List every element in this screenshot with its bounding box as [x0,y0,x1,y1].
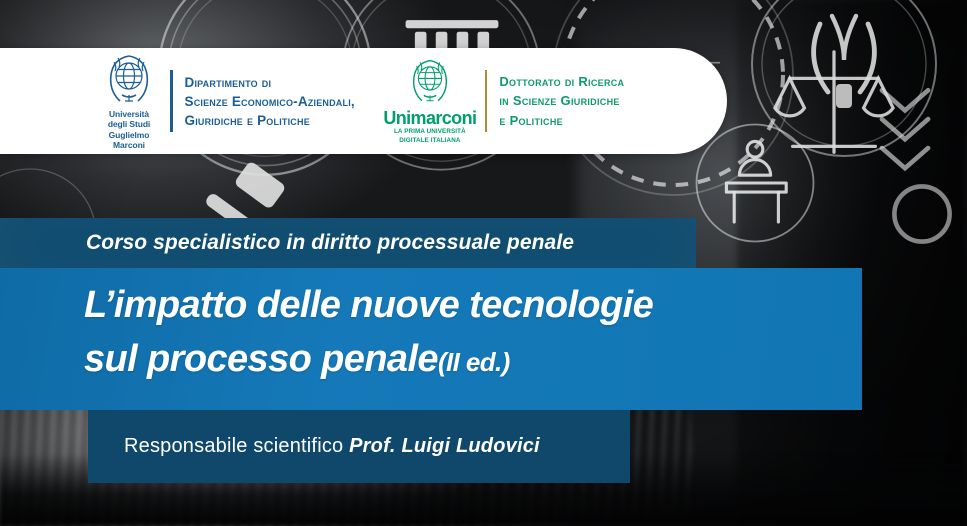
department-text: Dipartimento di Scienze Economico-Aziend… [185,73,355,130]
phd-program-text: Dottorato di Ricerca in Scienze Giuridic… [499,72,624,131]
divider-rule-gold [485,70,488,132]
unimarconi-wordmark: Unimarconi [383,109,476,127]
crest-globe-green-icon [405,57,455,107]
department-line1: Dipartimento di [185,73,355,92]
phd-line1: Dottorato di Ricerca [499,72,624,92]
department-line3: Giuridiche e Politiche [185,111,355,130]
phd-line3: e Politiche [499,111,624,131]
unimarconi-tagline-line2: DIGITALE ITALIANA [399,137,460,145]
ring-small-icon [876,168,967,260]
institution-header-card: Università degli Studi Guglielmo Marconi… [0,48,727,154]
scientific-director-label: Responsabile scientifico [124,435,349,457]
unimarconi-tagline-line1: LA PRIMA UNIVERSITÀ [394,128,466,136]
main-title: L’impatto delle nuove tecnologie sul pro… [84,278,653,389]
poster-banner: Università degli Studi Guglielmo Marconi… [0,0,967,526]
main-title-line1: L’impatto delle nuove tecnologie [84,284,653,326]
brand-marconi: Università degli Studi Guglielmo Marconi… [0,52,355,150]
course-subtitle-band: Corso specialistico in diritto processua… [0,218,696,268]
marconi-university-crest: Università degli Studi Guglielmo Marconi [100,52,158,150]
scientific-director-name: Prof. Luigi Ludovici [349,435,540,457]
scientific-director-line: Responsabile scientifico Prof. Luigi Lud… [124,435,540,458]
main-title-band: L’impatto delle nuove tecnologie sul pro… [0,268,862,410]
course-subtitle: Corso specialistico in diritto processua… [86,231,574,255]
main-title-edition: (II ed.) [438,347,510,377]
marconi-name-line2: Guglielmo Marconi [100,130,158,150]
department-line2: Scienze Economico-Aziendali, [185,92,355,111]
main-title-line2: sul processo penale [84,338,438,380]
divider-rule-blue [170,70,173,132]
phd-line2: in Scienze Giuridiche [499,91,624,111]
crest-globe-icon [103,52,155,108]
scientific-director-band: Responsabile scientifico Prof. Luigi Lud… [88,410,630,483]
brand-unimarconi: Unimarconi LA PRIMA UNIVERSITÀ DIGITALE … [369,57,625,144]
unimarconi-crest: Unimarconi LA PRIMA UNIVERSITÀ DIGITALE … [387,57,473,144]
marconi-name-line1: Università degli Studi [100,109,158,129]
